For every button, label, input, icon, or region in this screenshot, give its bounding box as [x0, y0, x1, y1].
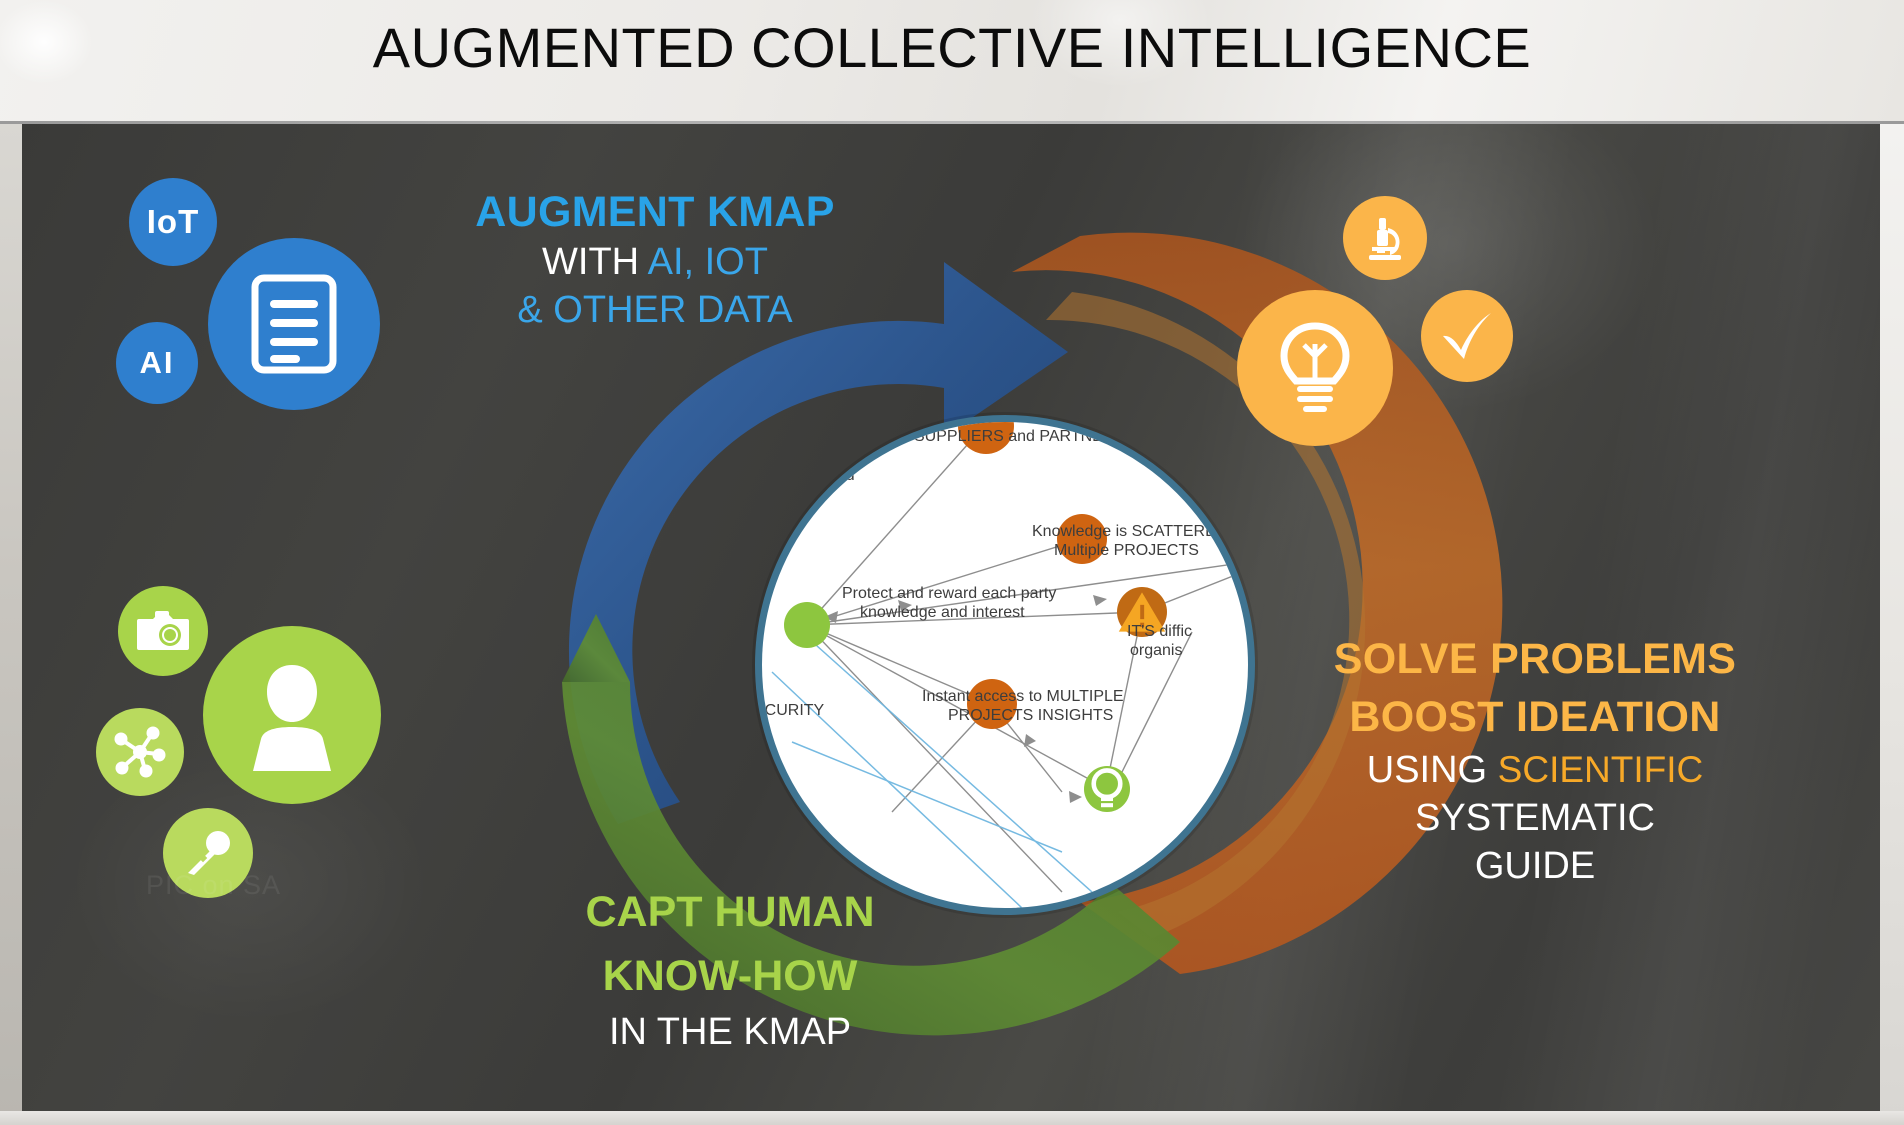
watermark-text: PIC on SA: [146, 870, 281, 901]
kmap-label-scattered-1: Knowledge is SCATTERED: [1032, 522, 1227, 541]
solve-line-3: USING SCIENTIFIC: [1300, 746, 1770, 794]
solve-scientific-label: SCIENTIFIC: [1498, 749, 1704, 790]
camera-icon: [137, 610, 189, 652]
person-bubble[interactable]: [203, 626, 381, 804]
kmap-label-instant-2: PROJECTS INSIGHTS: [948, 706, 1113, 725]
network-icon: [112, 724, 168, 780]
camera-bubble[interactable]: [118, 586, 208, 676]
kmap-label-suppliers-2: SUPPLIERS and PARTNERS: [914, 427, 1125, 446]
kmap-label-instant-1: Instant access to MULTIPLE: [922, 687, 1124, 706]
kmap-edges: [762, 422, 1248, 908]
lightbulb-icon: [1084, 766, 1130, 812]
kmap-label-difficult-1: IT'S diffic: [1127, 622, 1192, 641]
network-bubble[interactable]: [96, 708, 184, 796]
augment-ai-iot-label: AI, IOT: [648, 241, 768, 283]
capture-knowhow-text-block: CAPT HUMAN KNOW-HOW IN THE KMAP: [520, 880, 940, 1056]
lightbulb-bubble[interactable]: [1237, 290, 1393, 446]
solve-heading-2: BOOST IDEATION: [1300, 688, 1770, 746]
augment-heading: AUGMENT KMAP: [440, 186, 870, 238]
slide: AUGMENTED COLLECTIVE INTELLIGENCE: [0, 0, 1904, 1125]
solve-line-4: SYSTEMATIC: [1300, 794, 1770, 842]
augment-line-3: & OTHER DATA: [440, 286, 870, 334]
check-icon: [1439, 310, 1495, 362]
microscope-bubble[interactable]: [1343, 196, 1427, 280]
kmap-label-protect-1: Protect and reward each party: [842, 584, 1056, 603]
solve-problems-text-block: SOLVE PROBLEMS BOOST IDEATION USING SCIE…: [1300, 630, 1770, 890]
bottom-edge-strip: [0, 1111, 1904, 1125]
solve-heading-1: SOLVE PROBLEMS: [1300, 630, 1770, 688]
check-bubble[interactable]: [1421, 290, 1513, 382]
kmap-label-protect-2: knowledge and interest: [860, 603, 1025, 622]
iot-bubble[interactable]: IoT: [129, 178, 217, 266]
capture-heading-2: KNOW-HOW: [520, 944, 940, 1008]
kmap-circle[interactable]: EXPERTISE and W-HOW How to Use knowledge…: [755, 415, 1255, 915]
node-expertise-green[interactable]: [784, 602, 830, 648]
right-edge-strip: [1880, 124, 1904, 1125]
slide-header: AUGMENTED COLLECTIVE INTELLIGENCE: [0, 0, 1904, 124]
page-title: AUGMENTED COLLECTIVE INTELLIGENCE: [0, 15, 1904, 80]
lightbulb-icon: [1272, 320, 1358, 416]
person-icon: [239, 659, 345, 771]
left-edge-strip: [0, 124, 22, 1125]
ai-label: AI: [140, 345, 175, 381]
kmap-label-scattered-2: Multiple PROJECTS: [1054, 541, 1199, 560]
augment-with-label: WITH: [542, 241, 648, 283]
microscope-icon: [1361, 214, 1409, 262]
ai-bubble[interactable]: AI: [116, 322, 198, 404]
augment-kmap-text-block: AUGMENT KMAP WITH AI, IOT & OTHER DATA: [440, 186, 870, 334]
augment-line-2: WITH AI, IOT: [440, 238, 870, 286]
kmap-label-security: ECURITY: [755, 701, 824, 720]
document-bubble[interactable]: [208, 238, 380, 410]
solve-using-label: USING: [1367, 749, 1498, 791]
capture-heading-1: CAPT HUMAN: [520, 880, 940, 944]
node-insight-lightbulb[interactable]: [1084, 766, 1130, 812]
solve-line-5: GUIDE: [1300, 842, 1770, 890]
kmap-label-difficult-2: organis: [1130, 641, 1182, 660]
document-icon: [251, 274, 337, 374]
iot-label: IoT: [147, 203, 199, 241]
kmap-label-expertise-1: EXPERTISE and: [755, 466, 855, 485]
capture-line-3: IN THE KMAP: [520, 1008, 940, 1056]
